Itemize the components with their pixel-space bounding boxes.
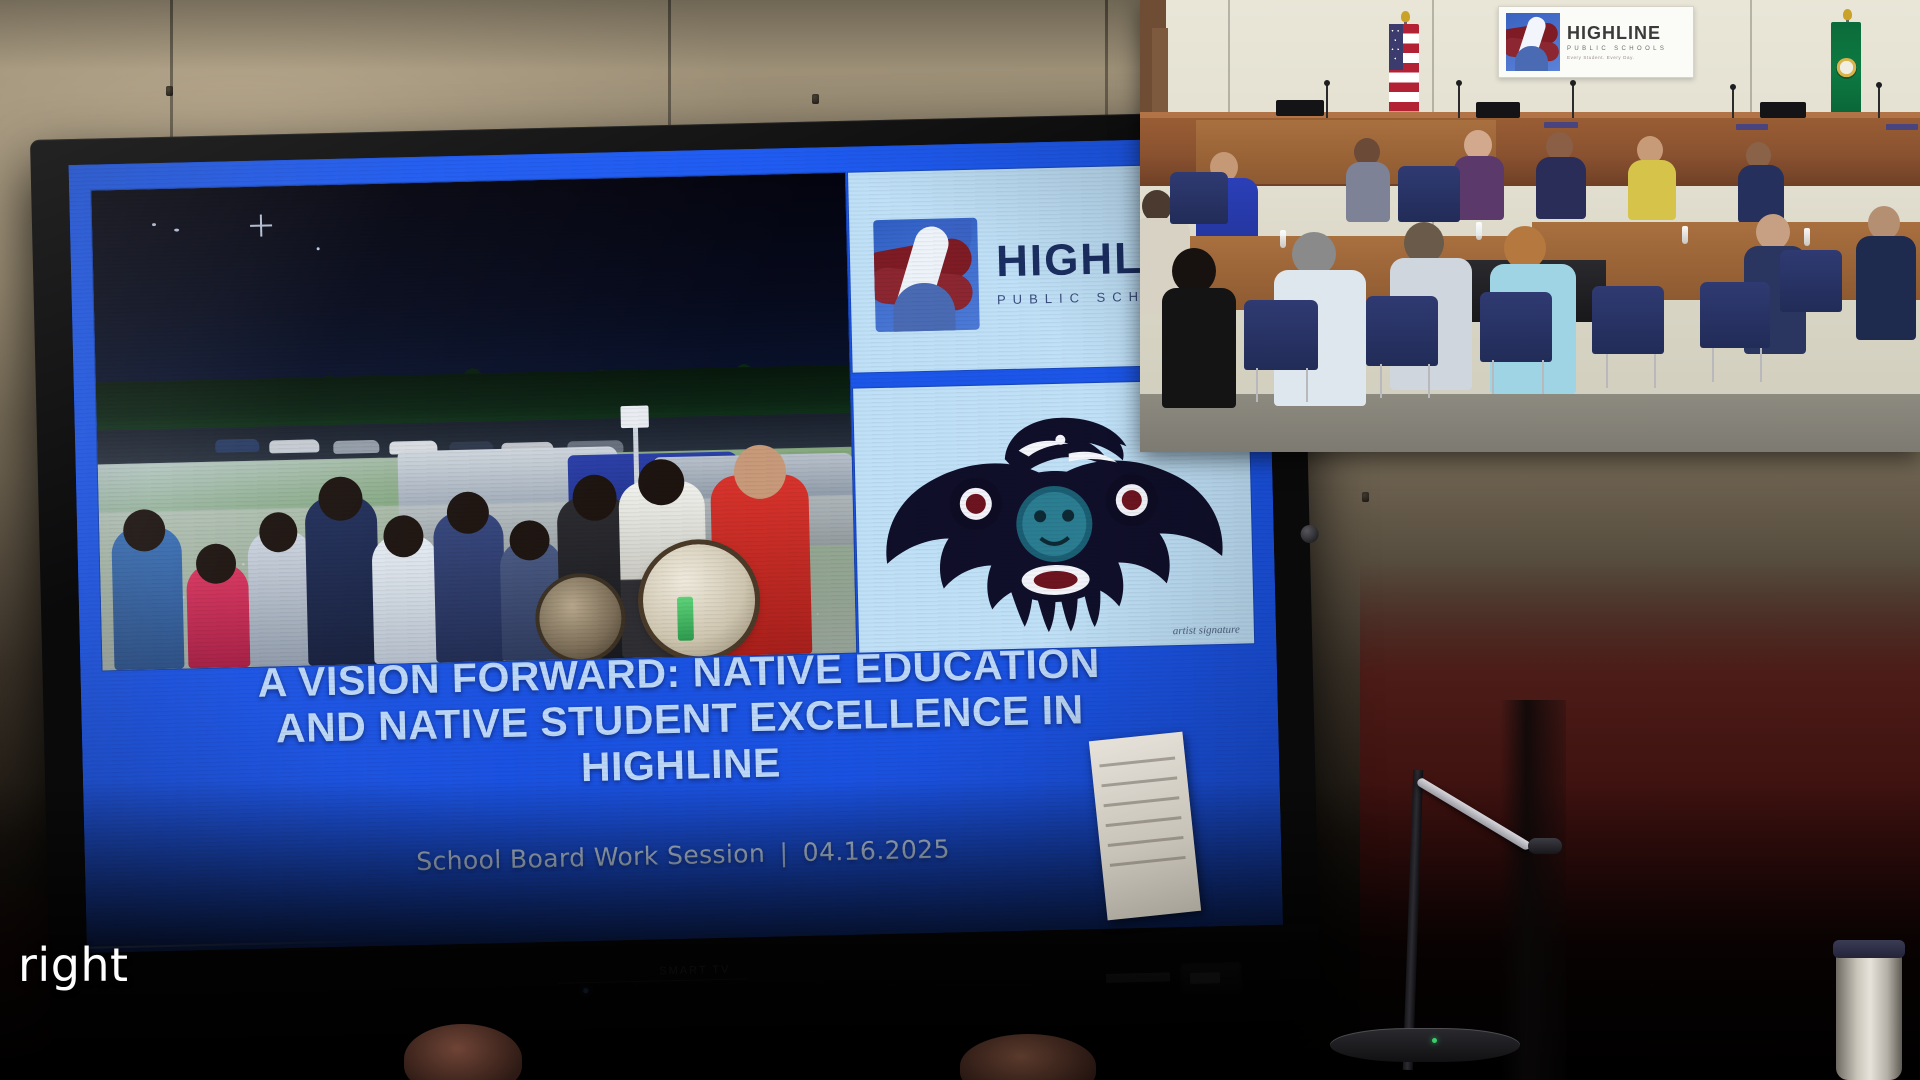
chair-leg: [1760, 348, 1762, 382]
chair-leg: [1712, 348, 1714, 382]
chair-leg: [1428, 364, 1430, 398]
live-caption-text: right: [18, 938, 129, 992]
photo-vehicle: [215, 439, 259, 453]
dais-microphone-icon: [1732, 88, 1734, 118]
photo-water-bottle: [677, 597, 694, 641]
dais-nameplate: [1544, 122, 1578, 128]
photo-vehicle: [269, 439, 319, 453]
wall-pin: [1362, 492, 1369, 502]
boardroom-sign-sub: PUBLIC SCHOOLS: [1567, 46, 1667, 52]
chair-leg: [1606, 354, 1608, 388]
boardroom-chair: [1780, 250, 1842, 312]
boardroom-chair: [1366, 296, 1438, 366]
dais-monitor: [1476, 102, 1520, 118]
boardroom-highline-sign: HIGHLINE PUBLIC SCHOOLS Every Student. E…: [1498, 6, 1694, 78]
boardroom-floor: [1140, 394, 1920, 452]
boardroom-camera-feed[interactable]: HIGHLINE PUBLIC SCHOOLS Every Student. E…: [1140, 0, 1920, 452]
photo-lens-flare: [250, 214, 273, 237]
photo-star: [152, 223, 156, 226]
highline-logo-icon: [873, 218, 980, 332]
microphone-base: [1330, 1028, 1520, 1062]
boardroom-chair: [1170, 172, 1228, 224]
chair-leg: [1654, 354, 1656, 388]
dais-nameplate: [1886, 124, 1918, 130]
photo-sign: [620, 406, 649, 429]
microphone-status-led-icon: [1432, 1038, 1437, 1043]
floor-shadow: [0, 780, 1920, 1080]
photo-vehicle: [333, 440, 379, 454]
room-pillar-shadow: [1500, 700, 1566, 1080]
photo-star: [317, 247, 320, 250]
stream-viewport: HIGHLINE PUBLIC SCHOOLS: [0, 0, 1920, 1080]
artwork-signature: artist signature: [1173, 624, 1240, 638]
dais-microphone-icon: [1878, 86, 1880, 118]
chair-leg: [1492, 360, 1494, 394]
photo-person: [305, 496, 381, 666]
chair-leg: [1306, 368, 1308, 402]
boardroom-sign-tagline: Every Student. Every Day.: [1567, 55, 1667, 60]
boardroom-sign-name: HIGHLINE: [1567, 24, 1667, 42]
boardroom-chair: [1398, 166, 1460, 222]
chair-leg: [1542, 360, 1544, 394]
boardroom-chair: [1700, 282, 1770, 348]
chair-leg: [1256, 368, 1258, 402]
water-bottle: [1804, 228, 1810, 246]
chair-leg: [1380, 364, 1382, 398]
dais-monitor: [1760, 102, 1806, 118]
boardroom-chair: [1244, 300, 1318, 370]
water-bottle: [1682, 226, 1688, 244]
dais-microphone-icon: [1326, 84, 1328, 118]
dais-nameplate: [1736, 124, 1768, 130]
tumbler-lid: [1833, 940, 1905, 958]
boardroom-chair: [1592, 286, 1664, 354]
insulated-tumbler: [1836, 952, 1902, 1080]
dais-microphone-icon: [1572, 84, 1574, 118]
dais-microphone-icon: [1458, 84, 1460, 118]
wall-pin: [166, 86, 173, 96]
highline-logo-icon: [1506, 13, 1560, 71]
slide-photo-drum-circle: [91, 173, 856, 671]
microphone-icon: [1528, 838, 1562, 854]
water-bottle: [1280, 230, 1286, 248]
wall-pin: [812, 94, 819, 104]
stack-of-papers: [1089, 732, 1201, 921]
water-bottle: [1476, 222, 1482, 240]
boardroom-chair: [1480, 292, 1552, 362]
dais-monitor: [1276, 100, 1324, 116]
